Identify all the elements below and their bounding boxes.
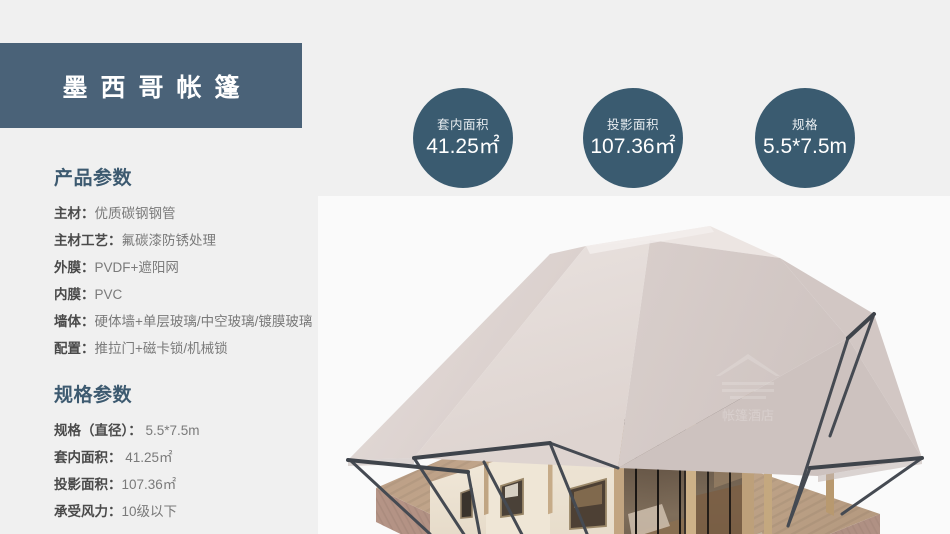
page-root: 墨西哥帐篷 产品参数 主材：优质碳钢钢管 主材工艺：氟碳漆防锈处理 外膜：PVD… xyxy=(0,0,950,534)
tent-render-image: 帐篷酒店 xyxy=(318,196,950,534)
badge-projected-area: 投影面积 107.36㎡ xyxy=(583,88,683,188)
badge-value: 107.36㎡ xyxy=(590,134,675,159)
spec-label: 承受风力： xyxy=(54,504,122,519)
badge-label: 套内面积 xyxy=(437,118,489,133)
badge-group: 套内面积 41.25㎡ 投影面积 107.36㎡ 规格 5.5*7.5m xyxy=(413,88,863,188)
spec-value: 推拉门+磁卡锁/机械锁 xyxy=(95,341,228,356)
spec-label: 套内面积： xyxy=(54,450,122,465)
spec-value: 硬体墙+单层玻璃/中空玻璃/镀膜玻璃 xyxy=(95,314,313,329)
badge-interior-area: 套内面积 41.25㎡ xyxy=(413,88,513,188)
spec-label: 主材工艺： xyxy=(54,233,122,248)
badge-label: 投影面积 xyxy=(607,118,659,133)
spec-label: 墙体： xyxy=(54,314,95,329)
spec-row: 内膜：PVC xyxy=(54,281,354,308)
spec-value: 氟碳漆防锈处理 xyxy=(122,233,217,248)
spec-row: 外膜：PVDF+遮阳网 xyxy=(54,254,354,281)
spec-row: 墙体：硬体墙+单层玻璃/中空玻璃/镀膜玻璃 xyxy=(54,308,354,335)
spec-value: 107.36㎡ xyxy=(122,477,177,492)
spec-list-specs: 规格（直径）： 5.5*7.5m 套内面积： 41.25㎡ 投影面积：107.3… xyxy=(54,417,354,525)
section-heading-product: 产品参数 xyxy=(54,163,354,190)
spec-value: PVC xyxy=(95,287,123,302)
spec-row: 承受风力：10级以下 xyxy=(54,498,354,525)
parameter-column: 产品参数 主材：优质碳钢钢管 主材工艺：氟碳漆防锈处理 外膜：PVDF+遮阳网 … xyxy=(54,163,354,525)
badge-label: 规格 xyxy=(792,118,818,133)
spec-row: 主材：优质碳钢钢管 xyxy=(54,200,354,227)
badge-value: 41.25㎡ xyxy=(426,134,500,159)
spec-row: 投影面积：107.36㎡ xyxy=(54,471,354,498)
spec-label: 外膜： xyxy=(54,260,95,275)
section-divider xyxy=(54,362,354,380)
spec-label: 规格（直径）： xyxy=(54,423,142,438)
spec-value: 10级以下 xyxy=(122,504,178,519)
spec-value: 41.25㎡ xyxy=(122,450,173,465)
title-banner: 墨西哥帐篷 xyxy=(0,43,302,128)
spec-row: 规格（直径）： 5.5*7.5m xyxy=(54,417,354,444)
spec-value: 5.5*7.5m xyxy=(142,423,200,438)
spec-label: 主材： xyxy=(54,206,95,221)
spec-value: PVDF+遮阳网 xyxy=(95,260,179,275)
spec-value: 优质碳钢钢管 xyxy=(95,206,176,221)
tent-render-svg: 帐篷酒店 xyxy=(318,196,950,534)
spec-row: 主材工艺：氟碳漆防锈处理 xyxy=(54,227,354,254)
spec-row: 套内面积： 41.25㎡ xyxy=(54,444,354,471)
section-heading-specs: 规格参数 xyxy=(54,380,354,407)
spec-label: 内膜： xyxy=(54,287,95,302)
watermark-text: 帐篷酒店 xyxy=(722,408,774,423)
spec-label: 投影面积： xyxy=(54,477,122,492)
badge-value: 5.5*7.5m xyxy=(763,134,847,159)
spec-list-product: 主材：优质碳钢钢管 主材工艺：氟碳漆防锈处理 外膜：PVDF+遮阳网 内膜：PV… xyxy=(54,200,354,362)
spec-label: 配置： xyxy=(54,341,95,356)
title-banner-text: 墨西哥帐篷 xyxy=(49,68,252,104)
spec-row: 配置：推拉门+磁卡锁/机械锁 xyxy=(54,335,354,362)
badge-dimensions: 规格 5.5*7.5m xyxy=(755,88,855,188)
